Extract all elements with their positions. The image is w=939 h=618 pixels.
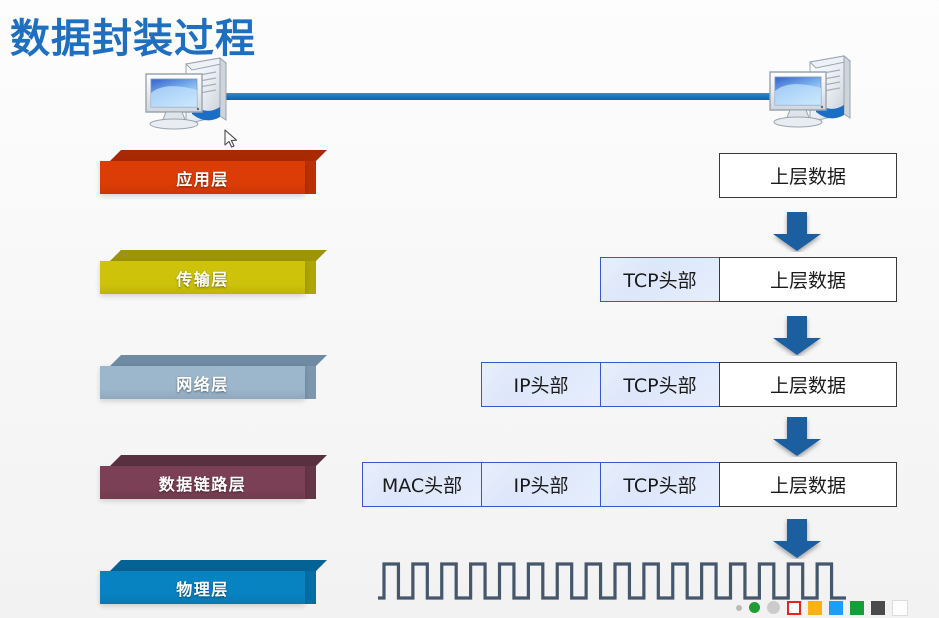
layer-label: 传输层 [176, 266, 229, 290]
layer-block-front-face: 传输层 [100, 261, 305, 294]
layer-label: 网络层 [176, 371, 229, 395]
desktop-computer-icon-left [136, 54, 240, 138]
pdu-row-3: IP头部TCP头部上层数据 [481, 362, 897, 407]
pdu-row-4: MAC头部IP头部TCP头部上层数据 [362, 462, 897, 507]
layer-block-3: 网络层 [100, 355, 316, 399]
desktop-computer-icon-right [760, 52, 864, 136]
layer-block-side-face [305, 466, 316, 499]
slide-canvas: 数据封装过程 [0, 0, 939, 618]
swatch-red-icon[interactable] [787, 601, 801, 615]
layer-block-front-face: 物理层 [100, 571, 305, 604]
layer-block-top-face [110, 455, 327, 466]
layer-block-2: 传输层 [100, 250, 316, 294]
pdu-data-cell: 上层数据 [719, 257, 897, 302]
arrow-down-icon-3 [771, 417, 823, 457]
layer-block-front-face: 应用层 [100, 161, 305, 194]
layer-block-top-face [110, 150, 327, 161]
swatch-darkgray-icon[interactable] [871, 601, 885, 615]
pdu-data-cell: 上层数据 [719, 153, 897, 198]
swatch-amber-icon[interactable] [808, 601, 822, 615]
layer-block-1: 应用层 [100, 150, 316, 194]
layer-block-front-face: 网络层 [100, 366, 305, 399]
square-wave-icon [378, 558, 856, 606]
swatch-white-icon[interactable] [892, 600, 908, 616]
pdu-header-cell: TCP头部 [600, 257, 720, 302]
pdu-header-cell: TCP头部 [600, 362, 720, 407]
layer-label: 应用层 [176, 166, 229, 190]
arrow-down-icon-4 [771, 519, 823, 559]
layer-block-side-face [305, 161, 316, 194]
pdu-header-cell: IP头部 [481, 362, 601, 407]
pdu-header-cell: MAC头部 [362, 462, 482, 507]
dot-gray-small-icon[interactable] [736, 605, 742, 611]
dot-green-icon[interactable] [749, 602, 760, 613]
layer-block-side-face [305, 571, 316, 604]
layer-block-side-face [305, 366, 316, 399]
pdu-header-cell: IP头部 [481, 462, 601, 507]
layer-block-top-face [110, 250, 327, 261]
pdu-row-1: 上层数据 [719, 153, 897, 198]
arrow-down-icon-2 [771, 316, 823, 356]
layer-label: 物理层 [176, 576, 229, 600]
layer-block-top-face [110, 560, 327, 571]
pdu-data-cell: 上层数据 [719, 462, 897, 507]
layer-block-side-face [305, 261, 316, 294]
dot-light-gray-icon[interactable] [767, 601, 780, 614]
pdu-row-2: TCP头部上层数据 [600, 257, 897, 302]
layer-block-top-face [110, 355, 327, 366]
swatch-blue-icon[interactable] [829, 601, 843, 615]
color-palette-strip[interactable] [736, 600, 908, 615]
pdu-header-cell: TCP头部 [600, 462, 720, 507]
swatch-green-icon[interactable] [850, 601, 864, 615]
layer-block-front-face: 数据链路层 [100, 466, 305, 499]
layer-label: 数据链路层 [159, 471, 247, 495]
layer-block-5: 物理层 [100, 560, 316, 604]
layer-block-4: 数据链路层 [100, 455, 316, 499]
network-link-line [224, 93, 770, 100]
arrow-down-icon-1 [771, 212, 823, 252]
mouse-pointer-icon [224, 129, 238, 149]
pdu-data-cell: 上层数据 [719, 362, 897, 407]
